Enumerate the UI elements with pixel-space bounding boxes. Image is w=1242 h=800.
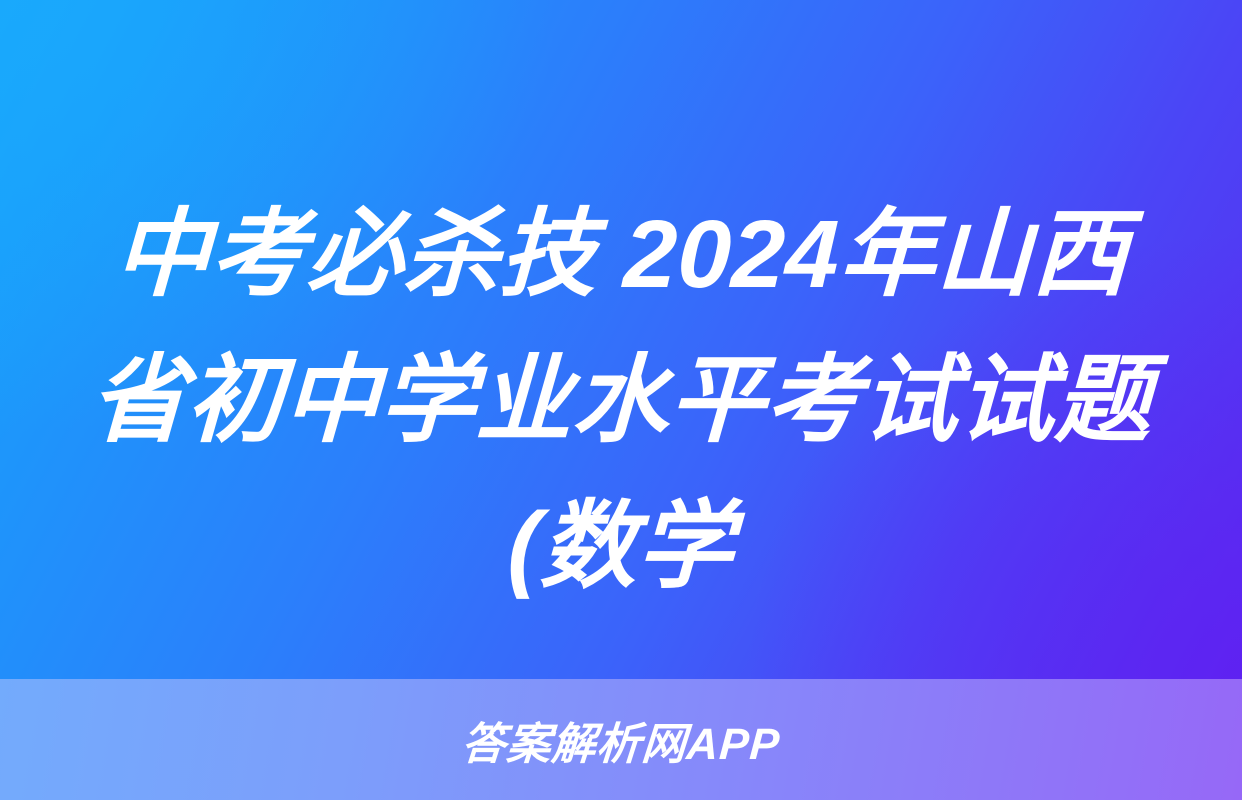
footer-brand-text: 答案解析网APP [460,708,783,772]
poster-canvas: 中考必杀技 2024年山西 省初中学业水平考试试题 (数学 答案解析网APP [0,0,1242,800]
hero-gradient-panel: 中考必杀技 2024年山西 省初中学业水平考试试题 (数学 [0,0,1242,679]
title-line-2: 省初中学业水平考试试题 [88,328,1155,474]
hero-content: 中考必杀技 2024年山西 省初中学业水平考试试题 (数学 [0,0,1242,679]
title-line-1: 中考必杀技 2024年山西 [111,182,1131,328]
footer-brand-bar: 答案解析网APP [0,679,1242,800]
title-line-3: (数学 [506,474,737,620]
